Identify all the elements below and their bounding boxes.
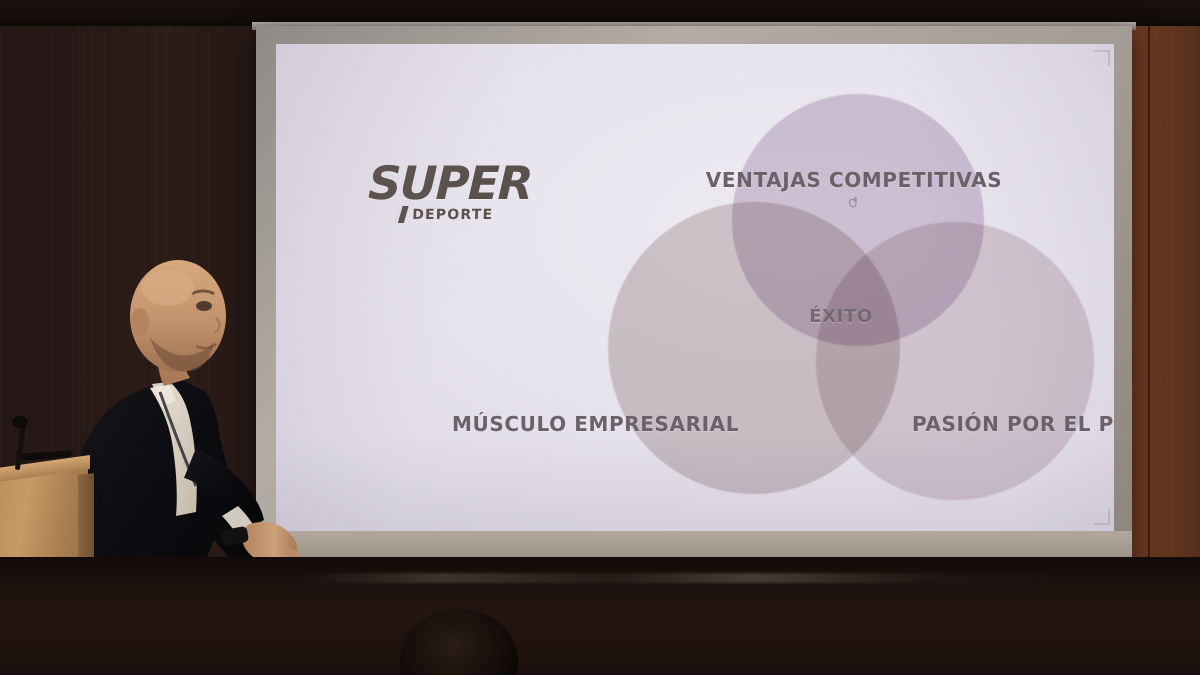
presentation-slide: SUPER DEPORTE VENTAJAS COMPETITIVAS [276,44,1114,531]
venn-label-center: ÉXITO [809,306,872,327]
projection-screen-frame: SUPER DEPORTE VENTAJAS COMPETITIVAS [256,26,1132,571]
presentation-photo-scene: SUPER DEPORTE VENTAJAS COMPETITIVAS [0,0,1200,675]
venn-label-top: VENTAJAS COMPETITIVAS [706,168,1002,192]
logo-secondary-text: DEPORTE [412,207,494,223]
venn-circle-pasion-por-el-proyecto [816,222,1094,500]
screen-corner-marker-bottom-right [1094,509,1110,525]
logo-primary-text: SUPER [368,162,549,204]
screen-corner-marker-top-right [1094,50,1110,66]
venn-diagram: VENTAJAS COMPETITIVAS ÉXITO MÚSCULO EMPR… [594,94,1114,524]
venn-label-left: MÚSCULO EMPRESARIAL [452,412,739,436]
brand-logo: SUPER DEPORTE [367,162,549,223]
venn-label-right: PASIÓN POR EL PROYECTO [912,412,1114,436]
microphone-capsule [12,416,28,428]
projection-screen-surface: SUPER DEPORTE VENTAJAS COMPETITIVAS [276,44,1114,531]
baseboard-reflection [300,573,1080,583]
